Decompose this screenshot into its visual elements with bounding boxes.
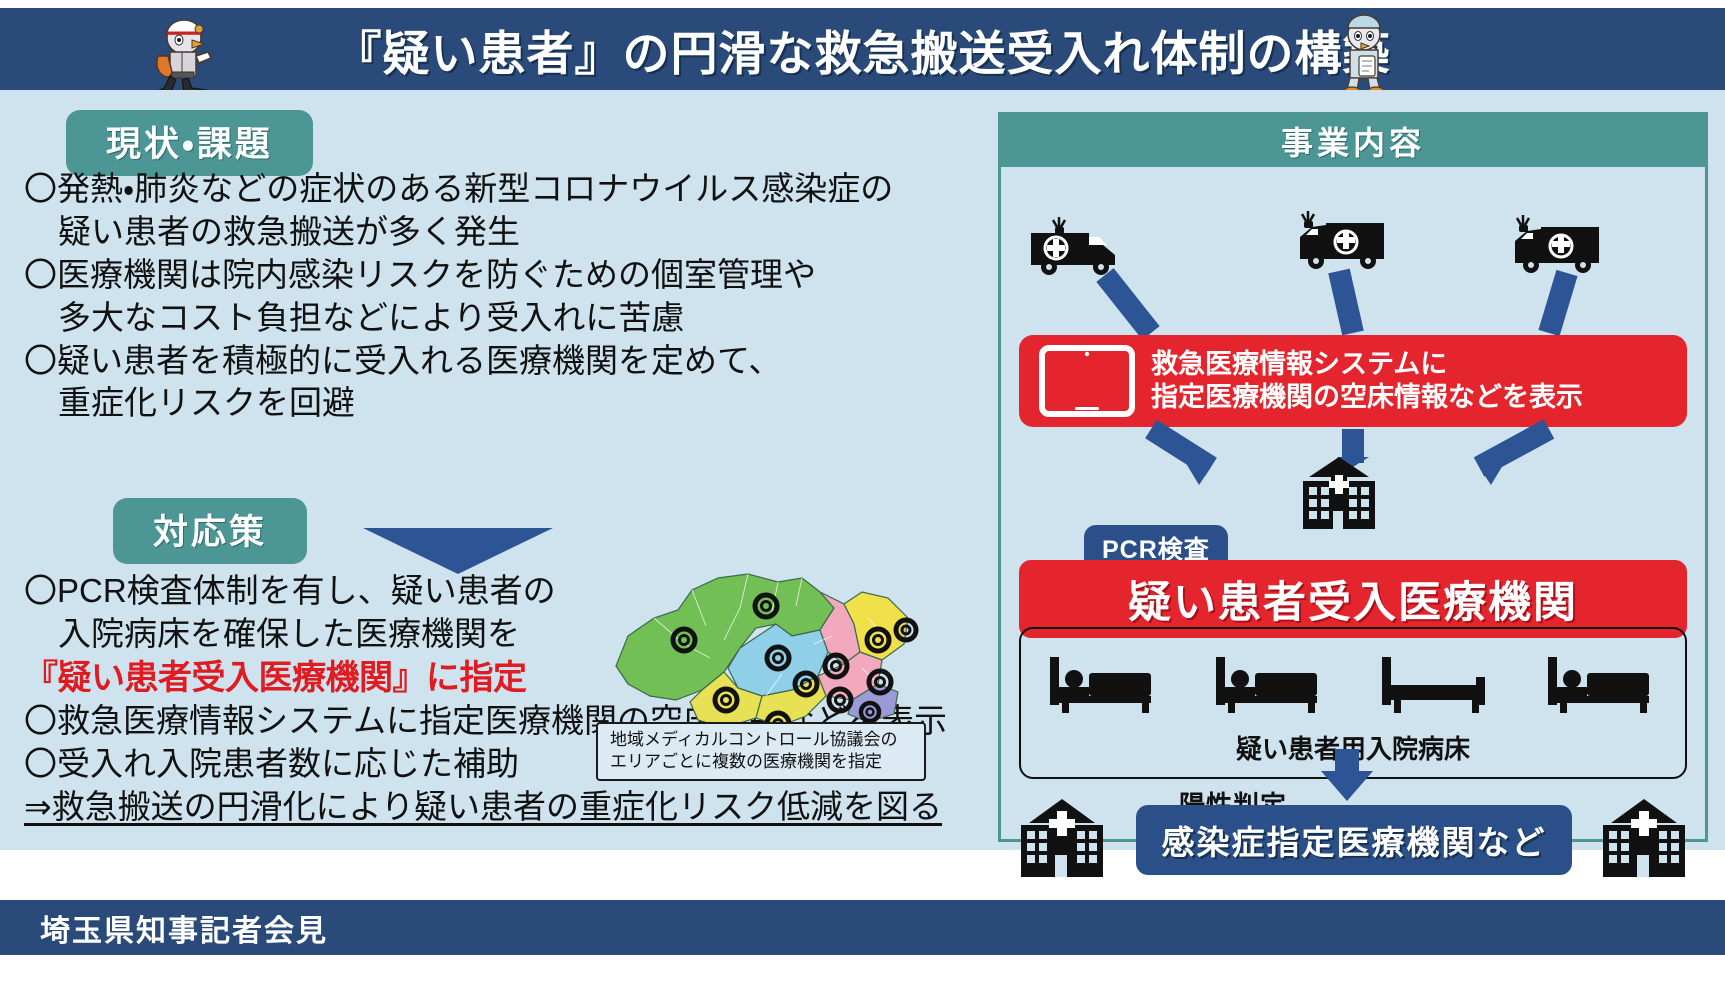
project-content-body: 救急医療情報システムに 指定医療機関の空床情報などを表示 bbox=[1001, 167, 1705, 839]
system-banner-line-1: 救急医療情報システムに bbox=[1151, 348, 1583, 381]
list-item: 多大なコスト負担などにより受入れに苦慮 bbox=[24, 297, 954, 340]
section-badge-countermeasures: 対応策 bbox=[113, 498, 307, 564]
current-issues-list: 〇発熱・肺炎などの症状のある新型コロナウイルス感染症の 疑い患者の救急搬送が多く… bbox=[24, 168, 954, 425]
ambulance-icon bbox=[1025, 211, 1133, 277]
penguin-paramedic-mascot-icon bbox=[148, 12, 222, 96]
title-bar: 『疑い患者』の円滑な救急搬送受入れ体制の構築 bbox=[0, 8, 1725, 90]
left-column: 現状・課題 〇発熱・肺炎などの症状のある新型コロナウイルス感染症の 疑い患者の救… bbox=[18, 100, 968, 850]
emergency-info-system-banner: 救急医療情報システムに 指定医療機関の空床情報などを表示 bbox=[1019, 335, 1687, 427]
bed-row bbox=[1021, 653, 1685, 715]
bed-empty-icon bbox=[1376, 653, 1496, 715]
map-caption-line-1: 地域メディカルコントロール協議会の bbox=[610, 729, 918, 751]
ambulance-icon bbox=[1501, 209, 1609, 275]
project-content-title: 事業内容 bbox=[1281, 118, 1425, 164]
list-item: 〇発熱・肺炎などの症状のある新型コロナウイルス感染症の bbox=[24, 168, 954, 211]
page-title: 『疑い患者』の円滑な救急搬送受入れ体制の構築 bbox=[335, 15, 1391, 84]
bed-occupied-icon bbox=[1210, 653, 1330, 715]
bed-occupied-icon bbox=[1542, 653, 1662, 715]
hospital-icon bbox=[1291, 455, 1387, 531]
list-item: 〇疑い患者を積極的に受入れる医療機関を定めて、 bbox=[24, 340, 954, 383]
destination-banner-text: 感染症指定医療機関など bbox=[1162, 816, 1547, 864]
ambulance-icon bbox=[1286, 205, 1394, 271]
map-caption-line-2: エリアごとに複数の医療機関を指定 bbox=[610, 751, 918, 773]
hospital-icon bbox=[1593, 797, 1695, 879]
main-banner-text: 疑い患者受入医療機関 bbox=[1128, 568, 1578, 630]
section-badge-current-issues: 現状・課題 bbox=[66, 110, 313, 176]
tablet-icon bbox=[1039, 345, 1135, 417]
list-item: 疑い患者の救急搬送が多く発生 bbox=[24, 211, 954, 254]
hospital-icon bbox=[1011, 797, 1113, 879]
system-banner-text: 救急医療情報システムに 指定医療機関の空床情報などを表示 bbox=[1151, 348, 1583, 414]
down-arrow-icon bbox=[1321, 771, 1373, 801]
infographic-slide: 『疑い患者』の円滑な救急搬送受入れ体制の構築 現状・課題 〇発熱・肺炎などの症状… bbox=[0, 0, 1725, 987]
project-content-header: 事業内容 bbox=[1001, 115, 1705, 167]
designated-infection-hospital-banner: 感染症指定医療機関など bbox=[1136, 805, 1572, 875]
project-content-panel: 事業内容 bbox=[998, 112, 1708, 842]
footer-bar: 埼玉県知事記者会見 bbox=[0, 900, 1725, 955]
footer-text: 埼玉県知事記者会見 bbox=[40, 906, 328, 950]
system-banner-line-2: 指定医療機関の空床情報などを表示 bbox=[1151, 381, 1583, 414]
bed-occupied-icon bbox=[1044, 653, 1164, 715]
down-arrow-icon bbox=[363, 528, 553, 574]
saitama-prefecture-map bbox=[606, 548, 926, 738]
list-item: 〇医療機関は院内感染リスクを防ぐための個室管理や bbox=[24, 254, 954, 297]
penguin-doctor-mascot-icon bbox=[1333, 10, 1395, 96]
map-caption: 地域メディカルコントロール協議会の エリアごとに複数の医療機関を指定 bbox=[596, 722, 926, 781]
list-item: 重症化リスクを回避 bbox=[24, 382, 954, 425]
conclusion-line: ⇒救急搬送の円滑化により疑い患者の重症化リスク低減を図る bbox=[24, 786, 954, 829]
